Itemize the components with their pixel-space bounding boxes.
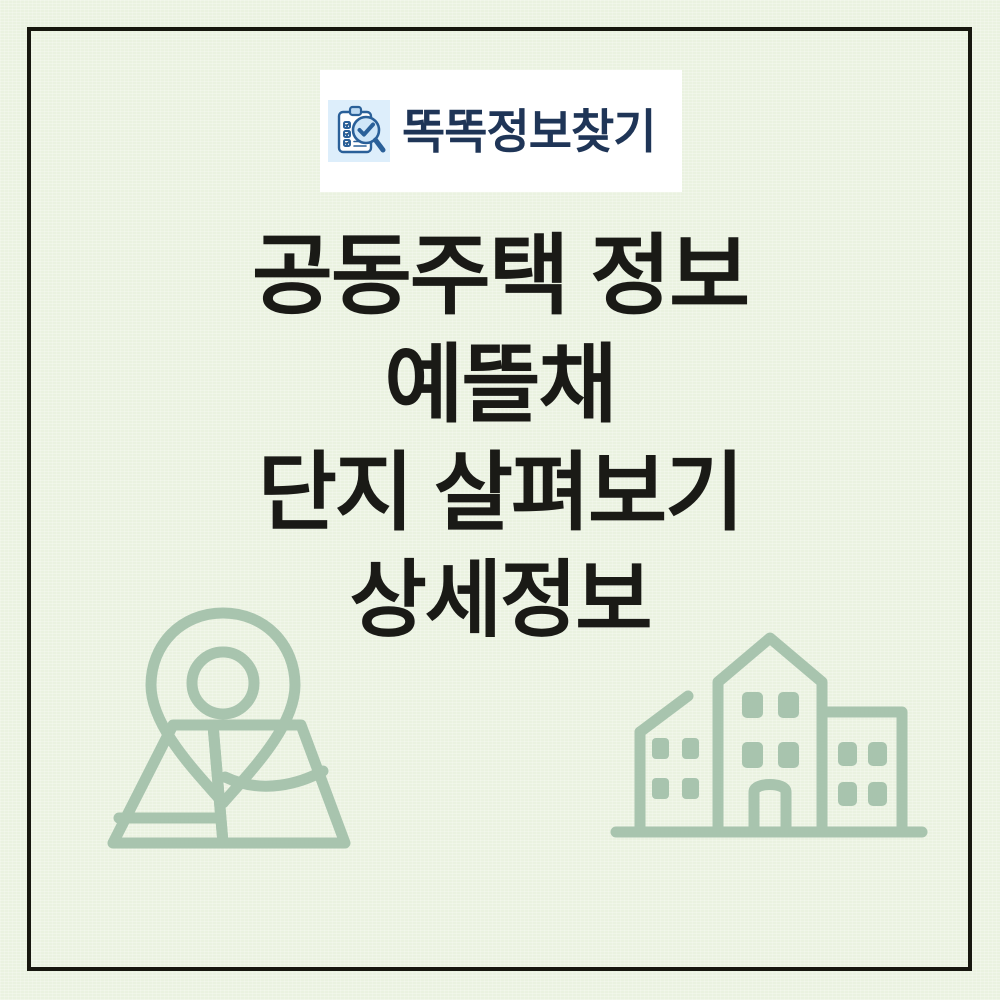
poster-canvas: 똑똑정보찾기 공동주택 정보 예뜰채 단지 살펴보기 상세정보 xyxy=(0,0,1000,1000)
title-line-4: 상세정보 xyxy=(0,558,1000,642)
brand-logo: 똑똑정보찾기 xyxy=(320,70,682,192)
brand-name: 똑똑정보찾기 xyxy=(402,108,655,155)
apartment-buildings-illustration xyxy=(610,620,930,850)
title-line-1: 공동주택 정보 xyxy=(0,232,1000,320)
clipboard-checklist-magnifier-icon xyxy=(328,100,390,162)
title-line-2: 예뜰채 xyxy=(0,342,1000,428)
title-line-3: 단지 살펴보기 xyxy=(0,450,1000,536)
page-title: 공동주택 정보 예뜰채 단지 살펴보기 상세정보 xyxy=(0,232,1000,642)
